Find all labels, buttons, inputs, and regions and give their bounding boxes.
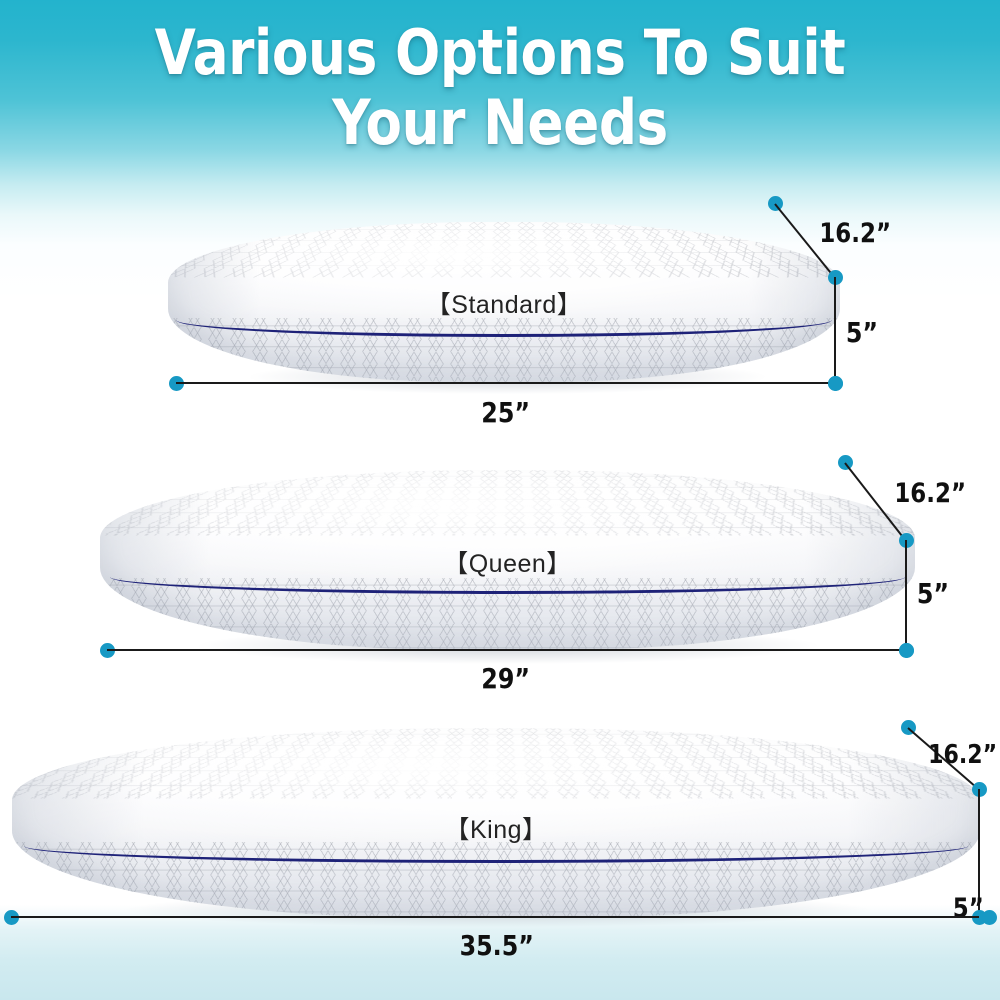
queen-height-line bbox=[905, 540, 907, 650]
honeycomb-texture-icon bbox=[12, 728, 980, 798]
honeycomb-texture-icon bbox=[100, 578, 915, 650]
title-line-1: Various Options To Suit bbox=[70, 22, 930, 84]
honeycomb-texture-icon bbox=[168, 222, 840, 278]
standard-height-value: 5” bbox=[846, 316, 878, 349]
queen-pillow: 【Queen】 bbox=[100, 470, 915, 650]
queen-height-value: 5” bbox=[917, 577, 949, 610]
queen-width-value: 29” bbox=[481, 662, 530, 695]
honeycomb-texture-icon bbox=[100, 470, 915, 535]
standard-height-line bbox=[834, 277, 836, 383]
standard-width-line bbox=[176, 382, 835, 384]
honeycomb-texture-icon bbox=[12, 842, 980, 918]
king-pillow-front-face bbox=[12, 842, 980, 918]
king-pillow-label: 【King】 bbox=[12, 810, 980, 846]
king-width-value: 35.5” bbox=[460, 929, 534, 962]
page-title: Various Options To Suit Your Needs bbox=[0, 22, 1000, 154]
queen-width-dot-right bbox=[899, 643, 914, 658]
standard-pillow-label: 【Standard】 bbox=[168, 285, 840, 321]
standard-width-dot-right bbox=[828, 376, 843, 391]
queen-depth-value: 16.2” bbox=[894, 478, 966, 509]
king-height-value: 5” bbox=[952, 893, 983, 924]
standard-width-value: 25” bbox=[481, 396, 530, 429]
king-pillow: 【King】 bbox=[12, 728, 980, 918]
king-width-line bbox=[11, 916, 979, 918]
king-width-dot-right bbox=[982, 910, 997, 925]
queen-pillow-label: 【Queen】 bbox=[100, 544, 915, 580]
king-depth-value: 16.2” bbox=[928, 740, 997, 770]
standard-depth-value: 16.2” bbox=[819, 218, 891, 249]
queen-width-line bbox=[107, 649, 906, 651]
title-line-2: Your Needs bbox=[70, 92, 930, 154]
standard-pillow: 【Standard】 bbox=[168, 222, 840, 382]
queen-pillow-front-face bbox=[100, 578, 915, 650]
infographic-canvas: Various Options To Suit Your Needs 【Stan… bbox=[0, 0, 1000, 1000]
honeycomb-texture-icon bbox=[168, 318, 840, 382]
standard-pillow-front-face bbox=[168, 318, 840, 382]
